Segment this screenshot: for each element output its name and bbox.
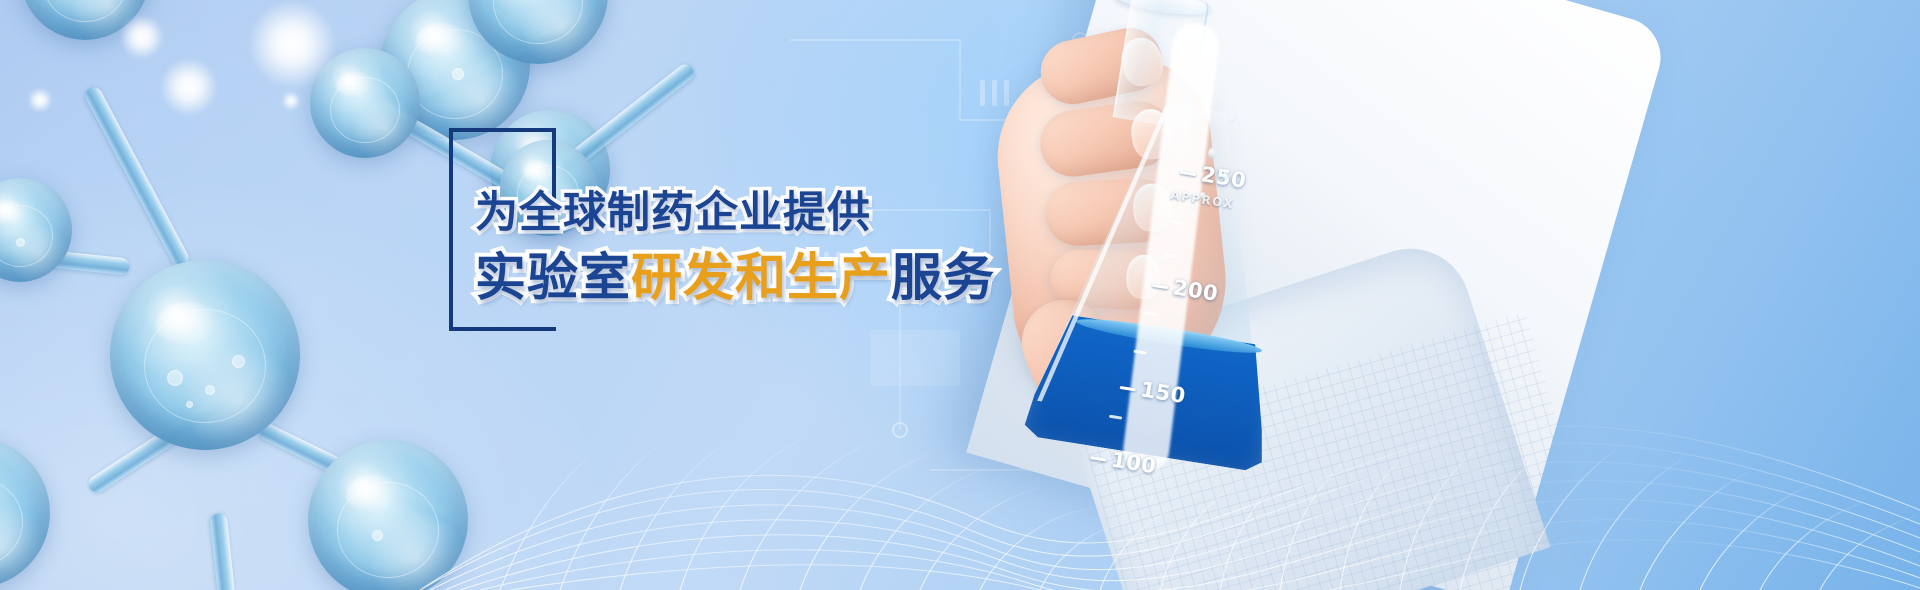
water-droplet (1208, 148, 1217, 159)
graduation-minor-tick (1170, 220, 1183, 225)
atom-inner-sphere (493, 0, 583, 44)
bokeh-light (160, 58, 218, 116)
bokeh-light (248, 0, 336, 88)
headline-line-1: 为全球制药企业提供 (475, 178, 871, 240)
headline-segment-lab: 实验室 (475, 249, 631, 308)
water-droplet (1222, 172, 1229, 180)
atom-inner-sphere (0, 205, 53, 267)
hero-banner: 250 APPROX 200 150 100 (0, 0, 1920, 590)
bokeh-light (282, 92, 300, 110)
water-droplet (1230, 116, 1235, 122)
bracket-frame-bottom (449, 327, 556, 331)
graduation-250: 250 (1179, 159, 1248, 193)
bokeh-light (120, 15, 164, 59)
bokeh-light (28, 88, 52, 112)
headline-segment-rd-production: 研发和生产 (631, 249, 891, 308)
water-droplet (1200, 192, 1206, 199)
headline-line-2: 实验室研发和生产服务 (475, 236, 995, 310)
graduation-200: 200 (1151, 272, 1220, 306)
wireframe-wave-mesh (0, 360, 1920, 590)
headline-block: 为全球制药企业提供 实验室研发和生产服务 (449, 128, 969, 338)
headline-segment-services: 服务 (891, 249, 995, 308)
atom-inner-sphere (330, 77, 400, 143)
molecule-atom (468, 0, 608, 64)
atom-inner-sphere (43, 0, 126, 22)
